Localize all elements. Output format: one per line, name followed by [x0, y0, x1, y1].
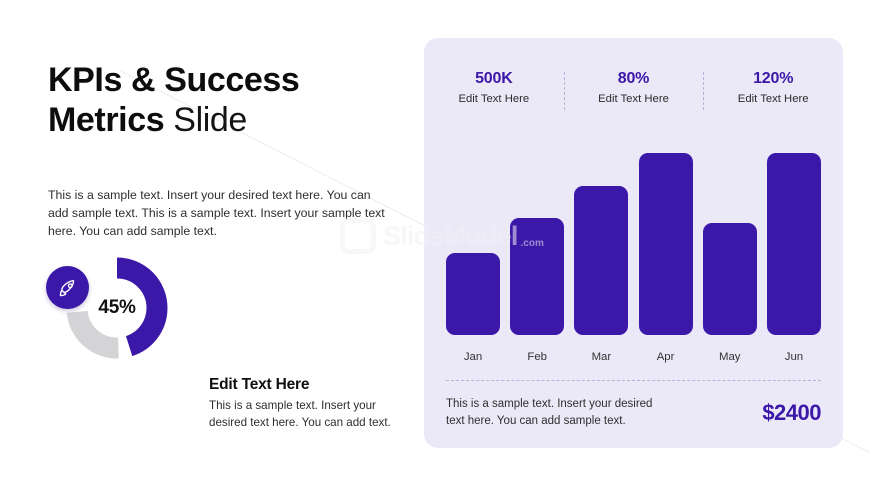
- bar-chart-axis-labels: Jan Feb Mar Apr May Jun: [446, 351, 821, 363]
- bar-column: [767, 149, 821, 335]
- card-footer: This is a sample text. Insert your desir…: [446, 396, 821, 429]
- card-divider: [446, 380, 821, 381]
- bar: [703, 223, 757, 335]
- kpi-label: Edit Text Here: [703, 93, 843, 105]
- slide-heading-block: KPIs & Success Metrics Slide: [48, 60, 408, 140]
- donut-caption: Edit Text Here This is a sample text. In…: [209, 376, 413, 431]
- kpi-value: 120%: [703, 70, 843, 88]
- axis-label: Jan: [446, 351, 500, 363]
- footer-amount: $2400: [762, 400, 821, 426]
- bar-column: [446, 149, 500, 335]
- axis-label: May: [703, 351, 757, 363]
- bar: [639, 153, 693, 335]
- bar: [510, 218, 564, 335]
- kpi-row: 500K Edit Text Here 80% Edit Text Here 1…: [424, 70, 843, 105]
- donut-caption-text: This is a sample text. Insert your desir…: [209, 398, 413, 431]
- axis-label: Apr: [639, 351, 693, 363]
- kpi-item-1: 500K Edit Text Here: [424, 70, 564, 105]
- title-line-2-light: Slide: [173, 101, 247, 139]
- axis-label: Jun: [767, 351, 821, 363]
- axis-label: Mar: [574, 351, 628, 363]
- title-line-1: KPIs & Success: [48, 61, 299, 99]
- kpi-value: 500K: [424, 70, 564, 88]
- donut-caption-title: Edit Text Here: [209, 376, 413, 394]
- bar: [446, 253, 500, 335]
- page-title: KPIs & Success Metrics Slide: [48, 60, 408, 140]
- bar-column: [574, 149, 628, 335]
- axis-label: Feb: [510, 351, 564, 363]
- metrics-card: 500K Edit Text Here 80% Edit Text Here 1…: [424, 38, 843, 448]
- rocket-icon: [46, 266, 89, 309]
- bar-column: [639, 149, 693, 335]
- bar-chart-bars: [446, 149, 821, 335]
- title-line-2-bold: Metrics: [48, 101, 164, 139]
- footer-text: This is a sample text. Insert your desir…: [446, 396, 671, 429]
- lead-paragraph: This is a sample text. Insert your desir…: [48, 186, 388, 240]
- bar-column: [703, 149, 757, 335]
- bar: [574, 186, 628, 335]
- kpi-item-3: 120% Edit Text Here: [703, 70, 843, 105]
- kpi-item-2: 80% Edit Text Here: [564, 70, 704, 105]
- kpi-value: 80%: [564, 70, 704, 88]
- bar: [767, 153, 821, 335]
- kpi-label: Edit Text Here: [564, 93, 704, 105]
- bar-chart: Jan Feb Mar Apr May Jun: [446, 146, 821, 371]
- kpi-label: Edit Text Here: [424, 93, 564, 105]
- bar-column: [510, 149, 564, 335]
